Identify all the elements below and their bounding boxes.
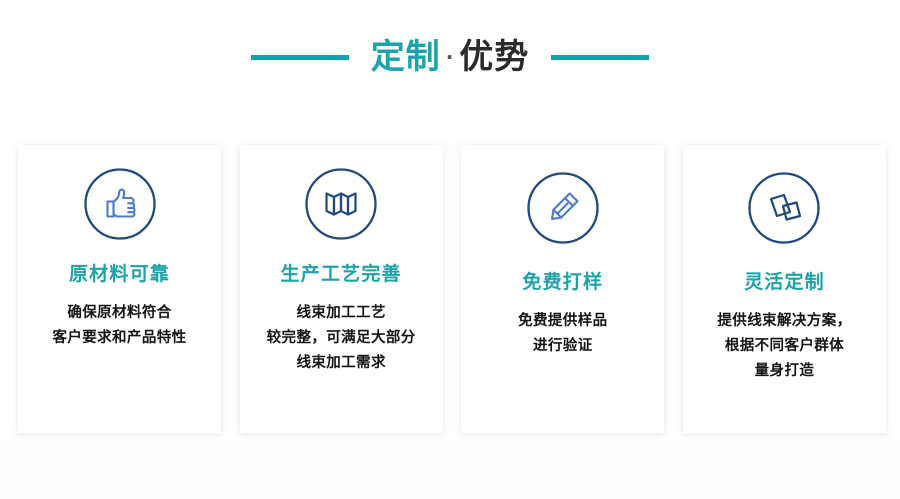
card-body: 确保原材料符合 客户要求和产品特性: [24, 301, 216, 351]
card-body-line: 免费提供样品: [467, 309, 659, 334]
card-body-line: 量身打造: [688, 359, 880, 384]
card-title: 生产工艺完善: [281, 265, 402, 284]
card-body: 免费提供样品 进行验证: [467, 309, 659, 359]
card-title: 原材料可靠: [69, 265, 170, 284]
heading-rule-right: [551, 55, 649, 60]
advantage-card[interactable]: 免费打样 免费提供样品 进行验证: [461, 145, 664, 433]
card-title: 免费打样: [522, 273, 603, 292]
advantage-card-list: 原材料可靠 确保原材料符合 客户要求和产品特性 生产工艺完善 线束加工工艺 较完…: [18, 145, 886, 433]
card-body: 线束加工工艺 较完整，可满足大部分 线束加工需求: [245, 301, 437, 376]
pencil-icon: [526, 171, 600, 245]
advantage-card[interactable]: 灵活定制 提供线束解决方案， 根据不同客户群体 量身打造: [683, 145, 886, 433]
thumbs-up-icon: [83, 167, 157, 241]
card-body-line: 进行验证: [467, 334, 659, 359]
heading-rule-left: [251, 55, 349, 60]
card-body-line: 客户要求和产品特性: [24, 326, 216, 351]
card-body-line: 较完整，可满足大部分: [245, 326, 437, 351]
card-body-line: 根据不同客户群体: [688, 334, 880, 359]
page-title-dark: 优势: [459, 37, 529, 77]
advantage-card[interactable]: 生产工艺完善 线束加工工艺 较完整，可满足大部分 线束加工需求: [240, 145, 443, 433]
card-body: 提供线束解决方案， 根据不同客户群体 量身打造: [688, 309, 880, 384]
page-title-separator: ·: [441, 45, 460, 69]
card-body-line: 提供线束解决方案，: [688, 309, 880, 334]
folded-map-icon: [304, 167, 378, 241]
advantage-card[interactable]: 原材料可靠 确保原材料符合 客户要求和产品特性: [18, 145, 221, 433]
page-title-accent: 定制: [371, 37, 441, 77]
section-heading: 定制·优势: [0, 0, 900, 110]
page-title: 定制·优势: [371, 40, 530, 74]
card-title: 灵活定制: [744, 273, 825, 292]
card-body-line: 线束加工工艺: [245, 301, 437, 326]
stacked-cards-icon: [747, 171, 821, 245]
card-body-line: 确保原材料符合: [24, 301, 216, 326]
card-body-line: 线束加工需求: [245, 351, 437, 376]
